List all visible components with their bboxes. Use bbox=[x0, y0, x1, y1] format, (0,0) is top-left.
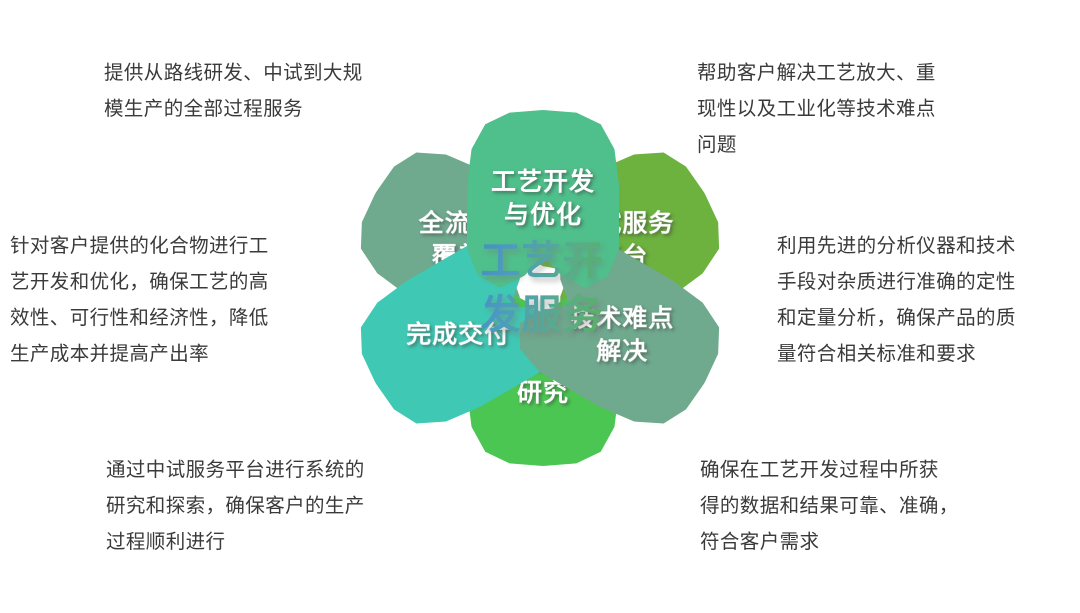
description-right: 利用先进的分析仪器和技术 手段对杂质进行准确的定性 和定量分析，确保产品的质 量… bbox=[777, 228, 1080, 372]
description-bottom-right: 确保在工艺开发过程中所获 得的数据和结果可靠、准确， 符合客户需求 bbox=[700, 452, 1015, 560]
petal-diagram: 全流程 覆盖 中试服务 平台 杂质定性 研究 完成交付 技术难点 解决 工艺开发… bbox=[340, 88, 740, 488]
description-left: 针对客户提供的化合物进行工 艺开发和优化，确保工艺的高 效性、可行性和经济性，降… bbox=[10, 228, 330, 372]
description-top-right: 帮助客户解决工艺放大、重 现性以及工业化等技术难点 问题 bbox=[697, 55, 1007, 163]
diagram-canvas: 提供从路线研发、中试到大规 模生产的全部过程服务 帮助客户解决工艺放大、重 现性… bbox=[0, 0, 1080, 613]
center-title: 工艺开 发服务 bbox=[452, 234, 632, 342]
petal-label: 工艺开发 与优化 bbox=[491, 166, 595, 232]
